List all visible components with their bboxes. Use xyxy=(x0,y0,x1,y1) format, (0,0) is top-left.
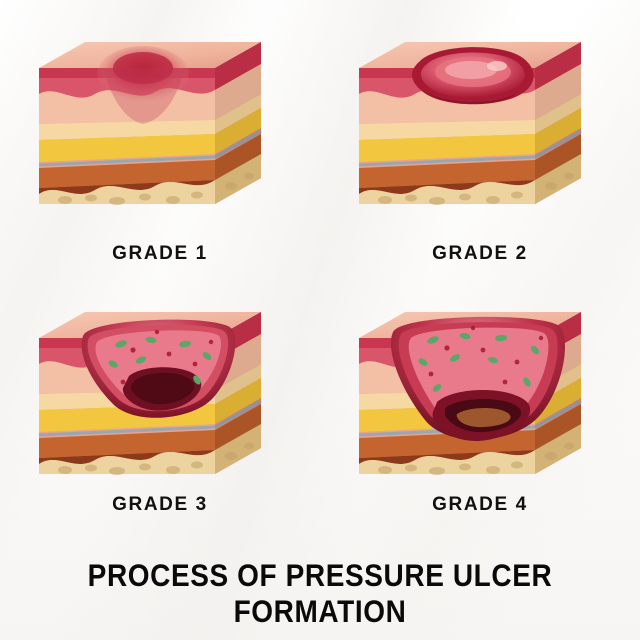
stage-label-grade-1: GRADE 1 xyxy=(0,243,320,265)
stage-grid: GRADE 1 xyxy=(0,0,640,640)
skin-block-grade-4 xyxy=(345,298,615,494)
stage-label-grade-2: GRADE 2 xyxy=(320,243,640,265)
skin-block-grade-3 xyxy=(25,298,295,494)
page-title: PROCESS OF PRESSURE ULCER FORMATION xyxy=(0,558,640,630)
title-row: PROCESS OF PRESSURE ULCER FORMATION xyxy=(0,552,640,640)
stage-label-grade-4: GRADE 4 xyxy=(320,494,640,516)
skin-block-grade-1 xyxy=(25,28,295,224)
stage-cell-grade-3: GRADE 3 xyxy=(0,286,320,552)
stage-cell-grade-2: GRADE 2 xyxy=(320,0,640,286)
blister-crater xyxy=(412,47,534,104)
stage-cell-grade-1: GRADE 1 xyxy=(0,0,320,286)
stage-label-grade-3: GRADE 3 xyxy=(0,494,320,516)
stage-cell-grade-4: GRADE 4 xyxy=(320,286,640,552)
skin-block-grade-2 xyxy=(345,28,615,224)
